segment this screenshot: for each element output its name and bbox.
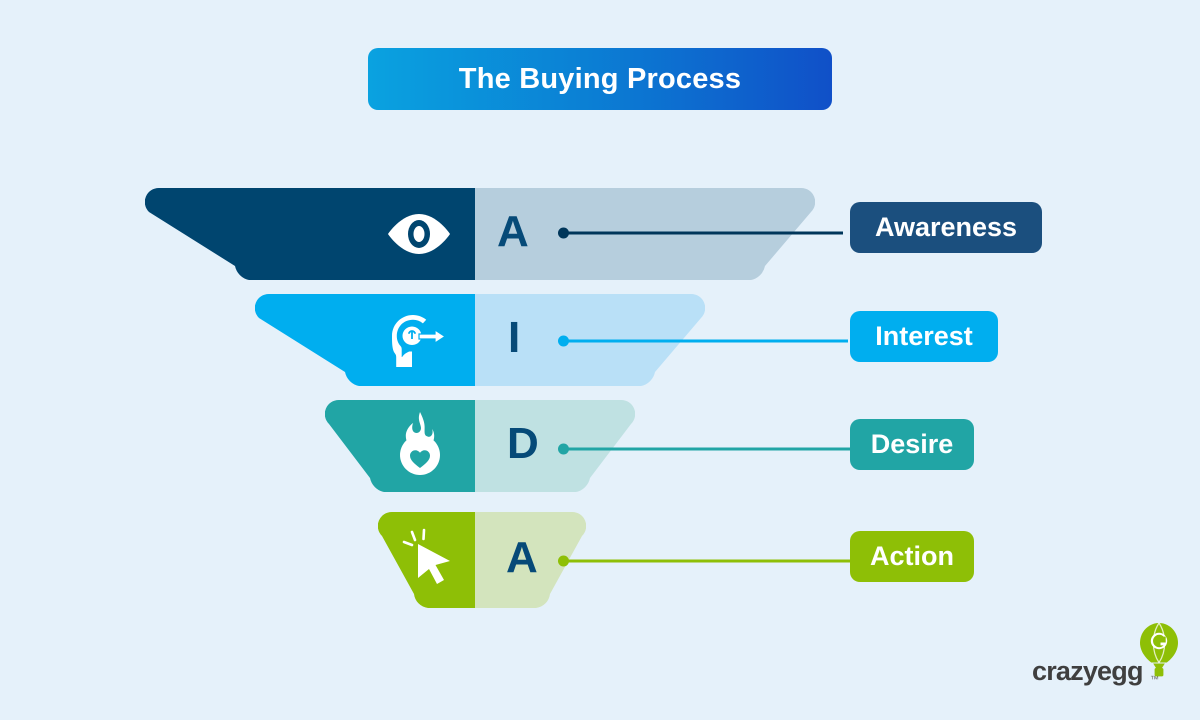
- stage-label-action[interactable]: Action: [850, 531, 974, 582]
- connector-interest: [558, 330, 848, 352]
- eye-icon: [383, 210, 455, 258]
- stage-label-awareness-text: Awareness: [875, 212, 1017, 243]
- connector-desire: [558, 438, 850, 460]
- head-lightbulb-icon: [383, 310, 449, 370]
- stage-letter-awareness: A: [497, 210, 529, 254]
- page-title-banner: The Buying Process: [368, 48, 832, 110]
- brand-name: crazyegg: [1032, 656, 1143, 687]
- connector-awareness: [558, 222, 843, 244]
- funnel-stage-action[interactable]: A: [378, 512, 586, 608]
- stage-label-interest[interactable]: Interest: [850, 311, 998, 362]
- page-title: The Buying Process: [459, 63, 741, 96]
- stage-label-interest-text: Interest: [875, 321, 973, 352]
- stage-label-action-text: Action: [870, 541, 954, 572]
- hot-air-balloon-icon: [1136, 622, 1182, 689]
- stage-label-desire[interactable]: Desire: [850, 419, 974, 470]
- flaming-heart-icon: [387, 410, 453, 482]
- infographic-canvas: The Buying Process A: [0, 0, 1200, 720]
- connector-action: [558, 550, 850, 572]
- brand-logo[interactable]: crazyegg ™: [1032, 622, 1182, 692]
- stage-letter-interest: I: [508, 316, 520, 360]
- stage-label-desire-text: Desire: [871, 429, 954, 460]
- cursor-click-icon: [402, 528, 464, 592]
- stage-label-awareness[interactable]: Awareness: [850, 202, 1042, 253]
- stage-letter-desire: D: [507, 422, 539, 466]
- stage-letter-action: A: [506, 536, 538, 580]
